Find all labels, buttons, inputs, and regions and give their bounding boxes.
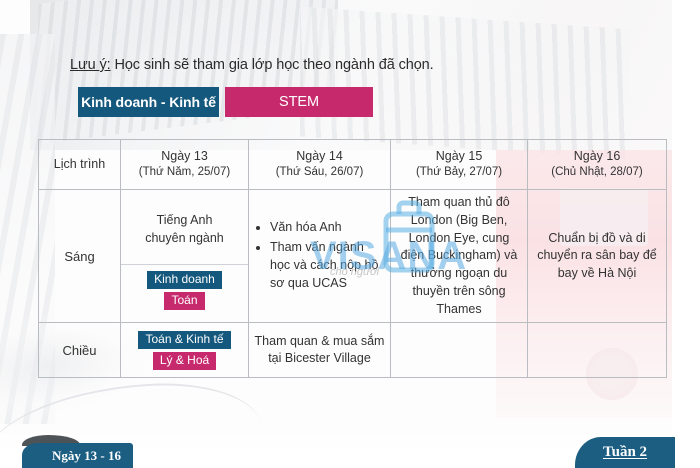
cell-afternoon-day-14: Tham quan & mua sắm tại Bicester Village: [249, 323, 391, 378]
background-right-white-edge: [672, 0, 700, 468]
cell-morning-day-15: Tham quan thủ đô London (Big Ben, London…: [391, 190, 528, 323]
day-13-date: (Thứ Năm, 25/07): [126, 165, 243, 181]
note-text: Học sinh sẽ tham gia lớp học theo ngành …: [111, 57, 434, 73]
note-line: Lưu ý: Học sinh sẽ tham gia lớp học theo…: [70, 57, 434, 73]
header-cell-day-16: Ngày 16 (Chủ Nhật, 28/07): [528, 140, 667, 190]
category-button-stem[interactable]: STEM: [225, 87, 373, 117]
day-15-date: (Thứ Bảy, 27/07): [396, 165, 522, 181]
cell-afternoon-day-16: [528, 323, 667, 378]
category-buttons: Kinh doanh - Kinh tế STEM: [78, 87, 373, 117]
cell-morning-day-14: Văn hóa Anh Tham vấn ngành học và cách n…: [249, 190, 391, 323]
background-london-buildings-right: [300, 6, 630, 159]
cell-afternoon-day-15: [391, 323, 528, 378]
day-14-name: Ngày 14: [254, 148, 385, 165]
table-header-row: Lịch trình Ngày 13 (Thứ Năm, 25/07) Ngày…: [39, 140, 667, 190]
cell-afternoon-day-13: Toán & Kinh tế Lý & Hoá: [121, 323, 249, 378]
badge-kinh-doanh[interactable]: Kinh doanh: [147, 271, 222, 289]
morning-day-13-subject: Tiếng Anh chuyên ngành: [121, 197, 248, 265]
morning-day-14-bullet-list: Văn hóa Anh Tham vấn ngành học và cách n…: [254, 218, 385, 293]
header-cell-day-15: Ngày 15 (Thứ Bảy, 27/07): [391, 140, 528, 190]
footer-left-banner: Ngày 13 - 16: [22, 443, 133, 468]
cell-morning-day-13: Tiếng Anh chuyên ngành Kinh doanh Toán: [121, 190, 249, 323]
badge-ly-hoa[interactable]: Lý & Hoá: [153, 352, 216, 370]
table-row-afternoon: Chiều Toán & Kinh tế Lý & Hoá Tham quan …: [39, 323, 667, 378]
row-label-afternoon: Chiều: [39, 323, 121, 378]
badge-toan-kinh-te[interactable]: Toán & Kinh tế: [138, 331, 230, 349]
right-edge-mask: [676, 420, 700, 468]
footer-right-banner: Tuần 2: [575, 437, 675, 468]
list-item: Văn hóa Anh: [270, 218, 381, 236]
row-label-morning: Sáng: [39, 190, 121, 323]
footer-week-label: Tuần 2: [603, 444, 647, 461]
day-13-name: Ngày 13: [126, 148, 243, 165]
badge-toan[interactable]: Toán: [164, 292, 204, 310]
note-prefix: Lưu ý:: [70, 57, 111, 73]
header-cell-day-13: Ngày 13 (Thứ Năm, 25/07): [121, 140, 249, 190]
morning-day-13-badges: Kinh doanh Toán: [121, 265, 248, 316]
table-row-morning: Sáng Tiếng Anh chuyên ngành Kinh doanh T…: [39, 190, 667, 323]
afternoon-day-13-badges: Toán & Kinh tế Lý & Hoá: [126, 331, 243, 370]
schedule-table: Lịch trình Ngày 13 (Thứ Năm, 25/07) Ngày…: [38, 139, 667, 378]
header-cell-schedule: Lịch trình: [39, 140, 121, 190]
day-15-name: Ngày 15: [396, 148, 522, 165]
day-16-name: Ngày 16: [533, 148, 661, 165]
day-16-date: (Chủ Nhật, 28/07): [533, 165, 661, 181]
day-14-date: (Thứ Sáu, 26/07): [254, 165, 385, 181]
cell-morning-day-16: Chuẩn bị đồ và di chuyển ra sân bay để b…: [528, 190, 667, 323]
list-item: Tham vấn ngành học và cách nộp hồ sơ qua…: [270, 238, 381, 292]
header-cell-day-14: Ngày 14 (Thứ Sáu, 26/07): [249, 140, 391, 190]
category-button-business-economics[interactable]: Kinh doanh - Kinh tế: [78, 87, 219, 117]
